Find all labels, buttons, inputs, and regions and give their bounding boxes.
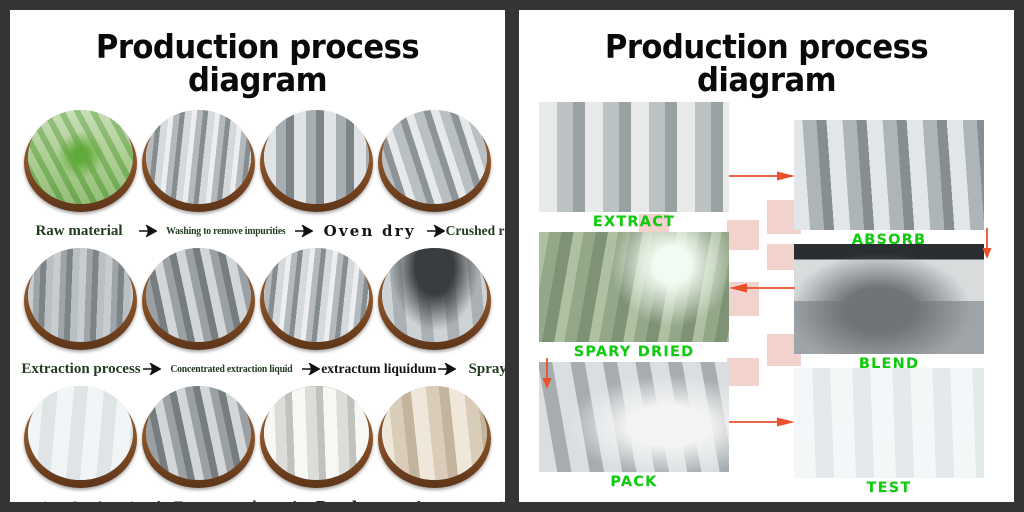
washing-equipment-photo: [146, 110, 251, 204]
arrow-right-icon: [426, 225, 446, 237]
step-thumb-washing[interactable]: [142, 110, 255, 212]
extraction-tanks-photo: [539, 102, 729, 212]
cell-test[interactable]: TEST: [794, 368, 984, 496]
arrow-down-icon: [981, 228, 993, 260]
spray-drying-photo: [539, 232, 729, 342]
step-thumb-crushed[interactable]: [378, 110, 491, 212]
watermark-block: [727, 220, 759, 250]
arrow-right-icon: [150, 501, 170, 502]
step-label-concentrated-liquid: Concentrated extraction liquid: [170, 364, 292, 375]
cell-pack[interactable]: PACK: [539, 362, 729, 490]
step-thumb-testing[interactable]: [24, 386, 137, 488]
arrow-down-icon: [541, 358, 553, 390]
absorption-line-photo: [794, 120, 984, 230]
arrow-right-icon: [410, 501, 430, 502]
step-label-raw-material: Raw material: [20, 224, 138, 239]
process-row-2: Extraction process Concentrated extracti…: [16, 248, 499, 386]
left-panel: Production process diagram: [10, 10, 505, 502]
extraction-plant-photo: [28, 248, 133, 342]
arrow-right-icon: [286, 501, 306, 502]
step-label-washing: Washing to remove impurities: [166, 226, 285, 237]
qc-lab-bench-photo: [28, 386, 133, 480]
left-panel-title: Production process diagram: [27, 10, 487, 96]
arrow-right-icon: [437, 363, 457, 375]
testing-lab-photo: [794, 368, 984, 478]
cell-absorb[interactable]: ABSORB: [794, 120, 984, 248]
process-row-1: Raw material Washing to remove impuritie…: [16, 110, 499, 248]
flow-arrow-pack-to-test: [729, 416, 797, 428]
step-thumb-oven-dry[interactable]: [260, 110, 373, 212]
package-bags-photo: [264, 386, 369, 480]
screenshot-root: Production process diagram: [0, 0, 1024, 512]
process-row-3: Testing of each project Extract products…: [16, 386, 499, 502]
step-label-extraction-process: Extraction process: [20, 362, 142, 377]
row-3-labels: Testing of each project Extract products…: [16, 488, 499, 502]
cell-spary-dried[interactable]: SPARY DRIED: [539, 232, 729, 360]
caption-spary-dried: SPARY DRIED: [539, 345, 729, 360]
flow-arrow-spary-dried-to-pack: [541, 358, 553, 390]
caption-pack: PACK: [539, 475, 729, 490]
arrow-right-icon: [729, 416, 797, 428]
step-label-transportation: Transportation delivery: [430, 500, 505, 502]
blending-machine-photo: [794, 244, 984, 354]
shipping-crates-photo: [382, 386, 487, 480]
caption-test: TEST: [794, 481, 984, 496]
cell-blend[interactable]: BLEND: [794, 244, 984, 372]
concentration-tanks-photo: [146, 248, 251, 342]
step-thumb-extract-products[interactable]: [142, 386, 255, 488]
arrow-left-icon: [727, 282, 795, 294]
row-2-labels: Extraction process Concentrated extracti…: [16, 350, 499, 384]
packing-operator-photo: [539, 362, 729, 472]
flow-arrow-blend-to-spary-dried: [727, 282, 795, 294]
arrow-right-icon: [138, 225, 158, 237]
arrow-right-icon: [301, 363, 321, 375]
step-thumb-extractum-liquidum[interactable]: [260, 248, 373, 350]
arrow-right-icon: [142, 363, 162, 375]
flow-arrow-absorb-to-blend: [981, 228, 993, 260]
watermark-block: [727, 358, 759, 386]
step-label-crushed: Crushed raw materials: [446, 224, 505, 238]
oven-dryer-photo: [264, 110, 369, 204]
row-1-labels: Raw material Washing to remove impuritie…: [16, 212, 499, 246]
cell-extract[interactable]: EXTRACT: [539, 102, 729, 230]
raw-material-photo: [28, 110, 133, 204]
step-thumb-package[interactable]: [260, 386, 373, 488]
step-label-extractum-liquidum: extractum liquidum: [321, 362, 437, 376]
step-label-testing: Testing of each project: [20, 500, 150, 502]
spray-dryer-photo: [382, 248, 487, 342]
caption-extract: EXTRACT: [539, 215, 729, 230]
step-label-spray-drying: Spray drying: [457, 362, 505, 377]
step-label-package: Package: [306, 500, 410, 503]
right-panel-grid: EXTRACT ABSORB SPARY DRIED BLEND PACK: [519, 96, 1014, 502]
arrow-right-icon: [294, 225, 314, 237]
step-thumb-extraction-process[interactable]: [24, 248, 137, 350]
row-1-images: [16, 110, 499, 212]
arrow-right-icon: [729, 170, 797, 182]
right-panel: Production process diagram EXTRACT ABSOR…: [519, 10, 1014, 502]
crushing-line-photo: [382, 110, 487, 204]
right-panel-title: Production process diagram: [536, 10, 996, 96]
step-label-oven-dry: Oven dry: [314, 224, 426, 239]
left-panel-rows: Raw material Washing to remove impuritie…: [10, 96, 505, 502]
row-2-images: [16, 248, 499, 350]
step-thumb-concentrated-liquid[interactable]: [142, 248, 255, 350]
step-thumb-raw-material[interactable]: [24, 110, 137, 212]
row-3-images: [16, 386, 499, 488]
flow-arrow-extract-to-absorb: [729, 170, 797, 182]
step-thumb-transportation[interactable]: [378, 386, 491, 488]
step-thumb-spray-drying[interactable]: [378, 248, 491, 350]
extractum-liquidum-photo: [264, 248, 369, 342]
extract-products-photo: [146, 386, 251, 480]
step-label-extract-products: Extract products: [170, 500, 286, 503]
